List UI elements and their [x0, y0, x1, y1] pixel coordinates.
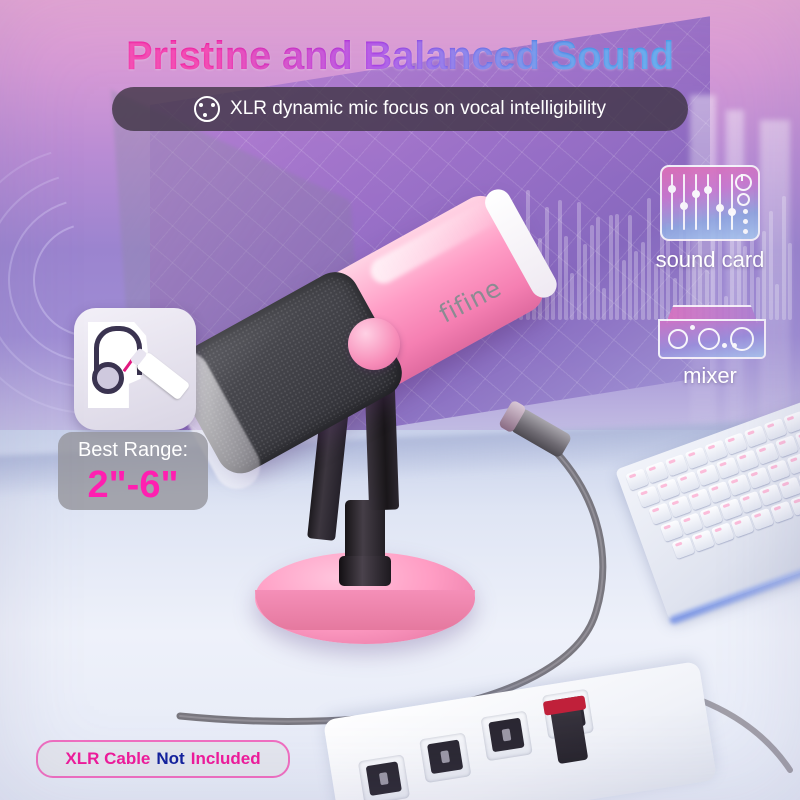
- subtitle-text: XLR dynamic mic focus on vocal intelligi…: [230, 98, 606, 120]
- notice-text-1: XLR Cable: [65, 749, 150, 769]
- mixer-knob-2: [698, 328, 720, 350]
- fader-track-6: [731, 174, 733, 230]
- feature-sound-card-label: sound card: [620, 247, 800, 273]
- fader-knob-5: [716, 204, 724, 212]
- best-range-badge: Best Range: 2"-6": [58, 432, 208, 510]
- mixer-small-dot-3: [690, 325, 695, 330]
- page-title: Pristine and Balanced Sound: [0, 34, 800, 79]
- indicator-dot-3: [743, 229, 748, 234]
- fader-track-1: [671, 174, 673, 230]
- fader-track-4: [707, 174, 709, 230]
- product-marketing-image: fifine Best Range: 2"-6" sound card: [0, 0, 800, 800]
- brand-logo: fifine: [435, 273, 507, 329]
- feature-mixer-label: mixer: [630, 363, 790, 389]
- feature-sound-card: sound card: [620, 165, 800, 273]
- indicator-dot-1: [743, 209, 748, 214]
- small-microphone-icon: [136, 351, 191, 400]
- notice-text-3: Included: [191, 749, 261, 769]
- headphone-earcup-icon: [92, 362, 124, 394]
- feature-mixer: mixer: [630, 305, 790, 389]
- best-range-icon-card: [74, 308, 196, 430]
- best-range-label: Best Range:: [58, 436, 208, 464]
- indicator-ring-icon: [737, 193, 750, 206]
- mixer-knob-1: [668, 329, 688, 349]
- mixer-front-face: [658, 319, 766, 359]
- power-outlet-3: [480, 711, 532, 762]
- xlr-connector-icon: [194, 96, 220, 122]
- notice-text-2: Not: [156, 749, 184, 769]
- mic-stand-collar: [339, 556, 391, 586]
- fader-knob-3: [692, 190, 700, 198]
- mixer-icon: [658, 305, 762, 357]
- fader-knob-1: [668, 185, 676, 193]
- power-icon: [735, 174, 752, 191]
- sound-card-icon: [660, 165, 760, 241]
- mic-body-highlight: [366, 197, 501, 288]
- indicator-dot-2: [743, 219, 748, 224]
- best-range-value: 2"-6": [58, 464, 208, 506]
- fader-knob-4: [704, 186, 712, 194]
- fader-track-5: [719, 174, 721, 230]
- power-outlet-1: [358, 754, 410, 800]
- mic-stand-base-side: [255, 590, 475, 630]
- fader-track-3: [695, 174, 697, 230]
- fader-knob-6: [728, 208, 736, 216]
- fader-knob-2: [680, 202, 688, 210]
- mixer-small-dot-2: [732, 343, 737, 348]
- power-outlet-2: [419, 732, 471, 783]
- mic-pivot-knob: [348, 318, 400, 370]
- xlr-cable-notice-badge: XLR Cable Not Included: [36, 740, 290, 778]
- mixer-small-dot-1: [722, 343, 727, 348]
- subtitle-banner: XLR dynamic mic focus on vocal intelligi…: [112, 87, 688, 131]
